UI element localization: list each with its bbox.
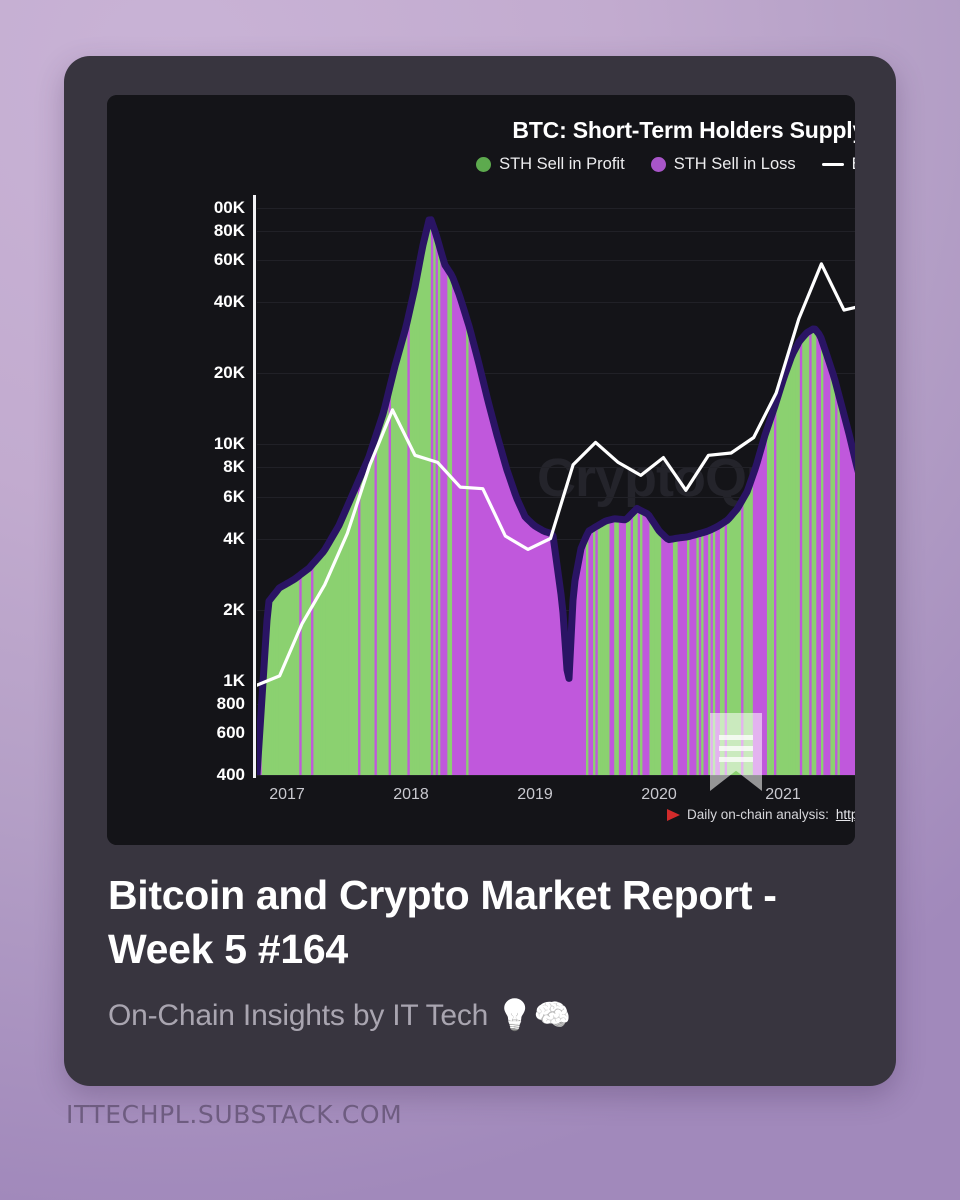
y-tick-800: 800	[217, 694, 245, 714]
link-preview-card[interactable]: CryptoQuant BTC: Short-Term Holders Supp…	[64, 56, 896, 1086]
y-tick-6K: 6K	[223, 487, 245, 507]
chart-footer: Daily on-chain analysis: https://x.com/A…	[667, 807, 855, 822]
legend-label-profit: STH Sell in Profit	[499, 155, 625, 174]
card-text-block: Bitcoin and Crypto Market Report - Week …	[108, 868, 852, 1035]
card-subtitle: On-Chain Insights by IT Tech 💡🧠	[108, 996, 852, 1035]
chart-figure: CryptoQuant BTC: Short-Term Holders Supp…	[107, 95, 855, 845]
x-tick-2021: 2021	[765, 786, 801, 804]
site-url-label: ITTECHPL.SUBSTACK.COM	[66, 1100, 402, 1129]
x-tick-2017: 2017	[269, 786, 305, 804]
y-tick-80K: 80K	[214, 221, 245, 241]
page-title: Bitcoin and Crypto Market Report - Week …	[108, 868, 852, 976]
y-tick-40K: 40K	[214, 292, 245, 312]
chart-thumbnail[interactable]: CryptoQuant BTC: Short-Term Holders Supp…	[107, 95, 855, 845]
x-tick-2019: 2019	[517, 786, 553, 804]
legend-label-loss: STH Sell in Loss	[674, 155, 796, 174]
y-tick-60K: 60K	[214, 250, 245, 270]
plot-series-layer	[257, 208, 855, 775]
y-tick-1K: 1K	[223, 671, 245, 691]
legend-item-sth-sell-in-loss: STH Sell in Loss	[651, 155, 796, 174]
y-tick-600: 600	[217, 723, 245, 743]
gridline	[257, 775, 855, 776]
y-axis-line	[253, 195, 256, 778]
x-tick-2018: 2018	[393, 786, 429, 804]
y-tick-2K: 2K	[223, 600, 245, 620]
legend-label-price: BTC Price [U	[852, 155, 855, 174]
legend-dot-purple	[651, 157, 666, 172]
footer-link[interactable]: https://x.com/AxelA	[836, 807, 855, 822]
y-tick-00K: 00K	[214, 198, 245, 218]
y-tick-4K: 4K	[223, 529, 245, 549]
legend-item-btc-price: BTC Price [U	[822, 155, 855, 174]
card-subtitle-text: On-Chain Insights by IT Tech	[108, 999, 496, 1032]
x-tick-2020: 2020	[641, 786, 677, 804]
y-tick-20K: 20K	[214, 363, 245, 383]
legend-item-sth-sell-in-profit: STH Sell in Profit	[476, 155, 625, 174]
chart-title-text: BTC: Short-Term Holders Supply and	[512, 117, 855, 143]
y-tick-400: 400	[217, 765, 245, 785]
legend-line-white	[822, 163, 844, 166]
y-tick-8K: 8K	[223, 457, 245, 477]
chart-legend: STH Sell in Profit STH Sell in Loss BTC …	[107, 155, 855, 174]
lightbulb-brain-emoji: 💡🧠	[496, 999, 570, 1032]
chart-title: BTC: Short-Term Holders Supply and	[107, 117, 855, 144]
y-tick-10K: 10K	[214, 434, 245, 454]
legend-dot-green	[476, 157, 491, 172]
plot-area: 00K80K60K40K20K10K8K6K4K2K1K800600400 20…	[257, 208, 855, 775]
footer-prefix-text: Daily on-chain analysis:	[687, 807, 829, 822]
play-flag-icon	[667, 809, 680, 821]
